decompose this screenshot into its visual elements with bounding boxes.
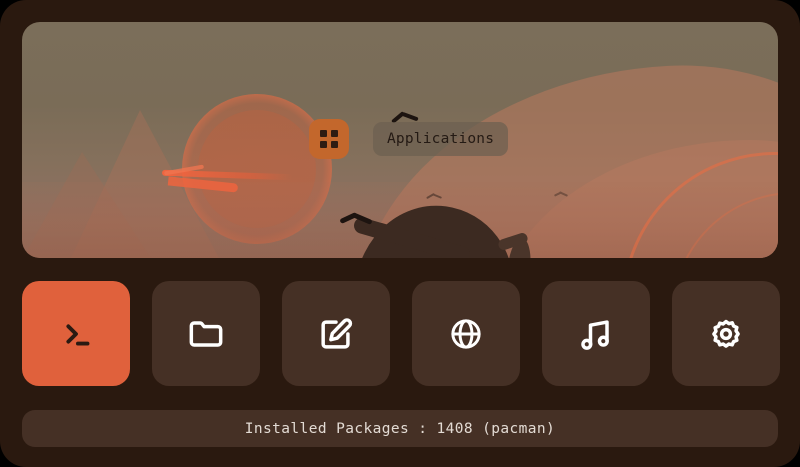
music-note-icon	[574, 312, 618, 356]
edit-icon	[314, 312, 358, 356]
gear-icon	[704, 312, 748, 356]
grid-icon	[320, 130, 338, 148]
dock-item-music[interactable]	[542, 281, 650, 386]
globe-icon	[445, 313, 487, 355]
folder-icon	[184, 312, 228, 356]
dock-item-files[interactable]	[152, 281, 260, 386]
dock-item-settings[interactable]	[672, 281, 780, 386]
dock-item-terminal[interactable]	[22, 281, 130, 386]
applications-tooltip: Applications	[373, 122, 508, 156]
desktop-window: Applications	[0, 0, 800, 467]
installed-packages-status-text: Installed Packages : 1408 (pacman)	[245, 421, 555, 437]
applications-launcher-button[interactable]	[309, 119, 349, 159]
applications-tooltip-label: Applications	[387, 131, 494, 147]
dock	[22, 281, 780, 386]
terminal-icon	[53, 311, 99, 357]
dock-item-web-browser[interactable]	[412, 281, 520, 386]
status-bar: Installed Packages : 1408 (pacman)	[22, 410, 778, 447]
dock-item-text-editor[interactable]	[282, 281, 390, 386]
